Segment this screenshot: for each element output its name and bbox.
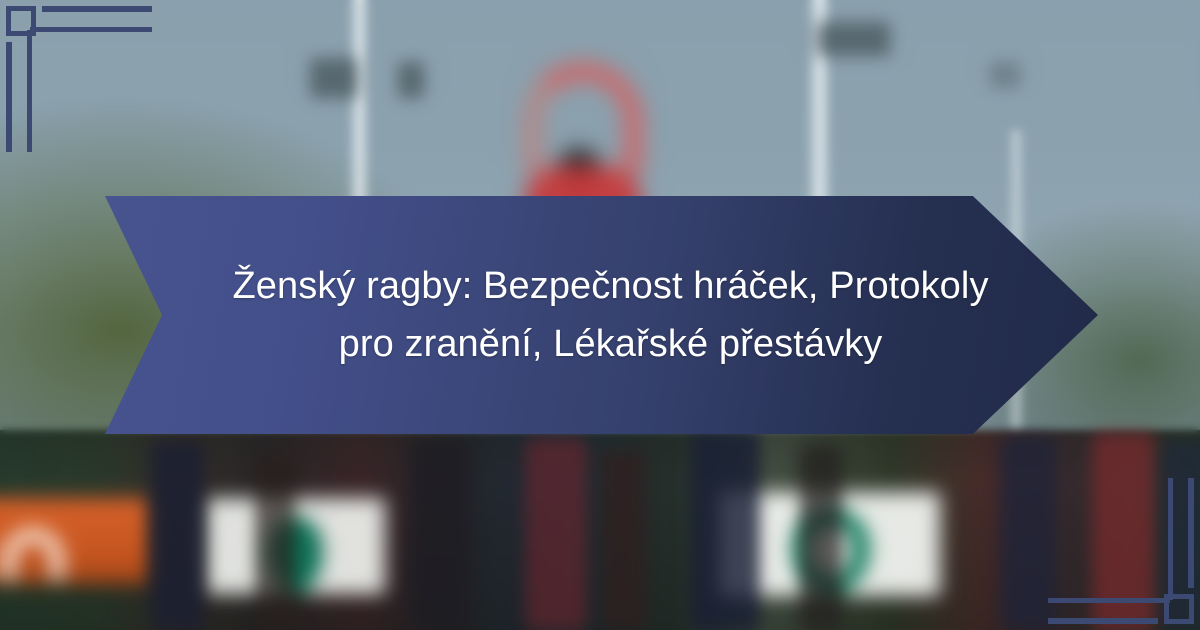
page-title-line-1: Ženský ragby: Bezpečnost hráček, Protoko… xyxy=(210,257,1012,315)
corner-line-vertical xyxy=(27,30,32,152)
corner-ornament-top-left xyxy=(0,0,190,170)
page-title-line-2: pro zranění, Lékařské přestávky xyxy=(210,315,1012,373)
corner-line-horizontal xyxy=(1048,598,1170,603)
corner-line-horizontal xyxy=(42,6,152,12)
title-banner: Ženský ragby: Bezpečnost hráček, Protoko… xyxy=(105,196,1098,434)
corner-line-horizontal xyxy=(1048,618,1158,624)
corner-ornament-bottom-right xyxy=(1010,460,1200,630)
share-banner-canvas: Ženský ragby: Bezpečnost hráček, Protoko… xyxy=(0,0,1200,630)
corner-line-horizontal xyxy=(30,27,152,32)
corner-line-vertical xyxy=(6,42,12,152)
corner-line-vertical xyxy=(1188,478,1194,588)
page-title: Ženský ragby: Bezpečnost hráček, Protoko… xyxy=(192,257,1012,373)
corner-line-vertical xyxy=(1168,478,1173,600)
